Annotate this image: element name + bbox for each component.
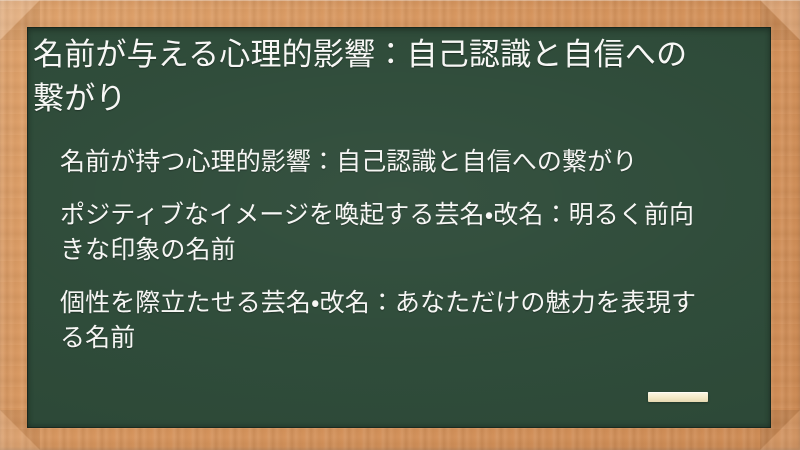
list-item[interactable]: 個性を際立たせる芸名・改名：あなただけの魅力を表現する名前 (33, 286, 745, 357)
table-of-contents: 名前が持つ心理的影響：自己認識と自信への繋がり ポジティブなイメージを喚起する芸… (33, 145, 745, 357)
page-title: 名前が与える心理的影響：自己認識と自信への繋がり (33, 33, 745, 121)
list-item[interactable]: 名前が持つ心理的影響：自己認識と自信への繋がり (33, 145, 745, 181)
chalk-stick-icon (648, 392, 708, 402)
list-item[interactable]: ポジティブなイメージを喚起する芸名・改名：明るく前向きな印象の名前 (33, 198, 745, 269)
chalkboard-slide: 名前が与える心理的影響：自己認識と自信への繋がり 名前が持つ心理的影響：自己認識… (0, 0, 800, 450)
chalkboard-content: 名前が与える心理的影響：自己認識と自信への繋がり 名前が持つ心理的影響：自己認識… (27, 27, 771, 428)
chalkboard-surface: 名前が与える心理的影響：自己認識と自信への繋がり 名前が持つ心理的影響：自己認識… (27, 27, 771, 428)
